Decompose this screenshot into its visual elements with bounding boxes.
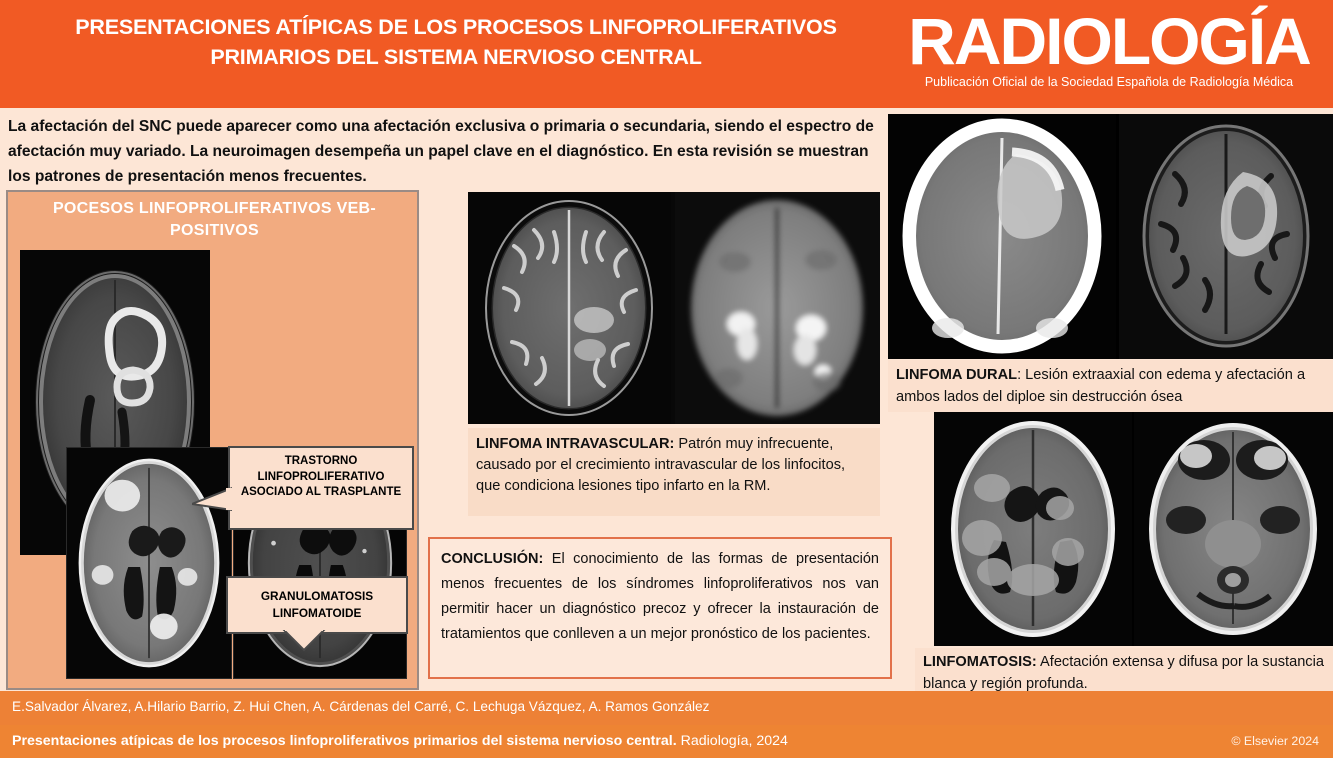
page-title-line-1: PRESENTACIONES ATÍPICAS DE LOS PROCESOS …	[22, 12, 890, 42]
caption-linfomatosis: LINFOMATOSIS: Afectación extensa y difus…	[915, 648, 1333, 696]
citation-title: Presentaciones atípicas de los procesos …	[12, 733, 677, 749]
journal-logo-text: RADIOLOGÍA	[899, 4, 1319, 78]
callout-granulomatosis-linfomatoide: GRANULOMATOSIS LINFOMATOIDE	[226, 576, 408, 634]
journal-subtitle: Publicación Oficial de la Sociedad Españ…	[899, 74, 1319, 90]
page-title: PRESENTACIONES ATÍPICAS DE LOS PROCESOS …	[22, 12, 890, 72]
bottom-bar: Presentaciones atípicas de los procesos …	[0, 725, 1333, 758]
conclusion-label: CONCLUSIÓN:	[441, 551, 543, 567]
authors-bar: E.Salvador Álvarez, A.Hilario Barrio, Z.…	[0, 691, 1333, 725]
brain-render-b	[67, 448, 231, 678]
callout-1-tail-icon	[192, 486, 232, 512]
center-image-pair-intravascular	[468, 192, 880, 424]
conclusion-box: CONCLUSIÓN: El conocimiento de las forma…	[428, 537, 892, 679]
caption-linfoma-intravascular: LINFOMA INTRAVASCULAR: Patrón muy infrec…	[468, 428, 880, 516]
left-panel-title: POCESOS LINFOPROLIFERATIVOS VEB-POSITIVO…	[18, 198, 411, 242]
copyright-notice: © Elsevier 2024	[1231, 732, 1319, 751]
image-ct-dural-lymphoma	[888, 114, 1116, 359]
citation: Presentaciones atípicas de los procesos …	[12, 731, 788, 751]
left-panel-veb-positive: POCESOS LINFOPROLIFERATIVOS VEB-POSITIVO…	[6, 190, 419, 690]
right-top-image-pair-dural	[888, 114, 1333, 359]
citation-source: Radiología, 2024	[677, 733, 788, 749]
poster-header: PRESENTACIONES ATÍPICAS DE LOS PROCESOS …	[0, 0, 1333, 108]
image-mri-flair-linfomatosis-supratentorial	[934, 412, 1132, 646]
image-mri-flair-granulomatosis	[66, 447, 232, 679]
page-title-line-2: PRIMARIOS DEL SISTEMA NERVIOSO CENTRAL	[22, 42, 890, 72]
poster-root: PRESENTACIONES ATÍPICAS DE LOS PROCESOS …	[0, 0, 1333, 758]
right-bottom-image-pair-linfomatosis	[934, 412, 1333, 646]
image-mri-flair-dural-lymphoma	[1119, 114, 1333, 359]
caption-linfomatosis-label: LINFOMATOSIS:	[923, 654, 1037, 670]
journal-brand: RADIOLOGÍA Publicación Oficial de la Soc…	[899, 4, 1319, 90]
callout-1-label: TRASTORNO LINFOPROLIFERATIVO ASOCIADO AL…	[241, 455, 401, 498]
image-mri-flair-linfomatosis-basal	[1134, 412, 1333, 646]
callout-2-label: GRANULOMATOSIS LINFOMATOIDE	[261, 589, 373, 620]
image-mri-t2-intravascular	[468, 192, 671, 424]
caption-linfoma-dural: LINFOMA DURAL: Lesión extraaxial con ede…	[888, 360, 1333, 412]
callout-trastorno-linfoproliferativo: TRASTORNO LINFOPROLIFERATIVO ASOCIADO AL…	[228, 446, 414, 530]
caption-linfoma-intravascular-label: LINFOMA INTRAVASCULAR:	[476, 436, 674, 452]
intro-paragraph: La afectación del SNC puede aparecer com…	[8, 114, 880, 189]
authors-list: E.Salvador Álvarez, A.Hilario Barrio, Z.…	[12, 697, 709, 717]
image-mri-dwi-intravascular	[675, 192, 880, 424]
callout-2-tail-icon	[282, 630, 326, 652]
caption-linfoma-dural-label: LINFOMA DURAL	[896, 367, 1017, 383]
